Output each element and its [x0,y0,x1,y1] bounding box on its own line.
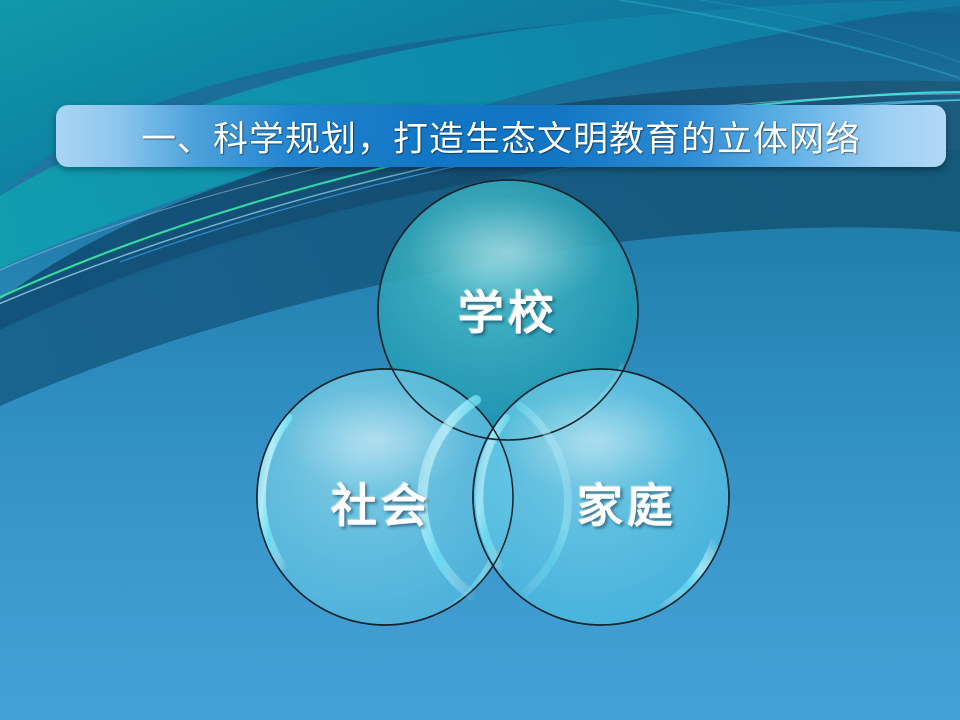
presentation-slide: 一、科学规划，打造生态文明教育的立体网络 [0,0,960,720]
venn-diagram [0,0,960,720]
venn-circle-family[interactable] [473,369,729,625]
